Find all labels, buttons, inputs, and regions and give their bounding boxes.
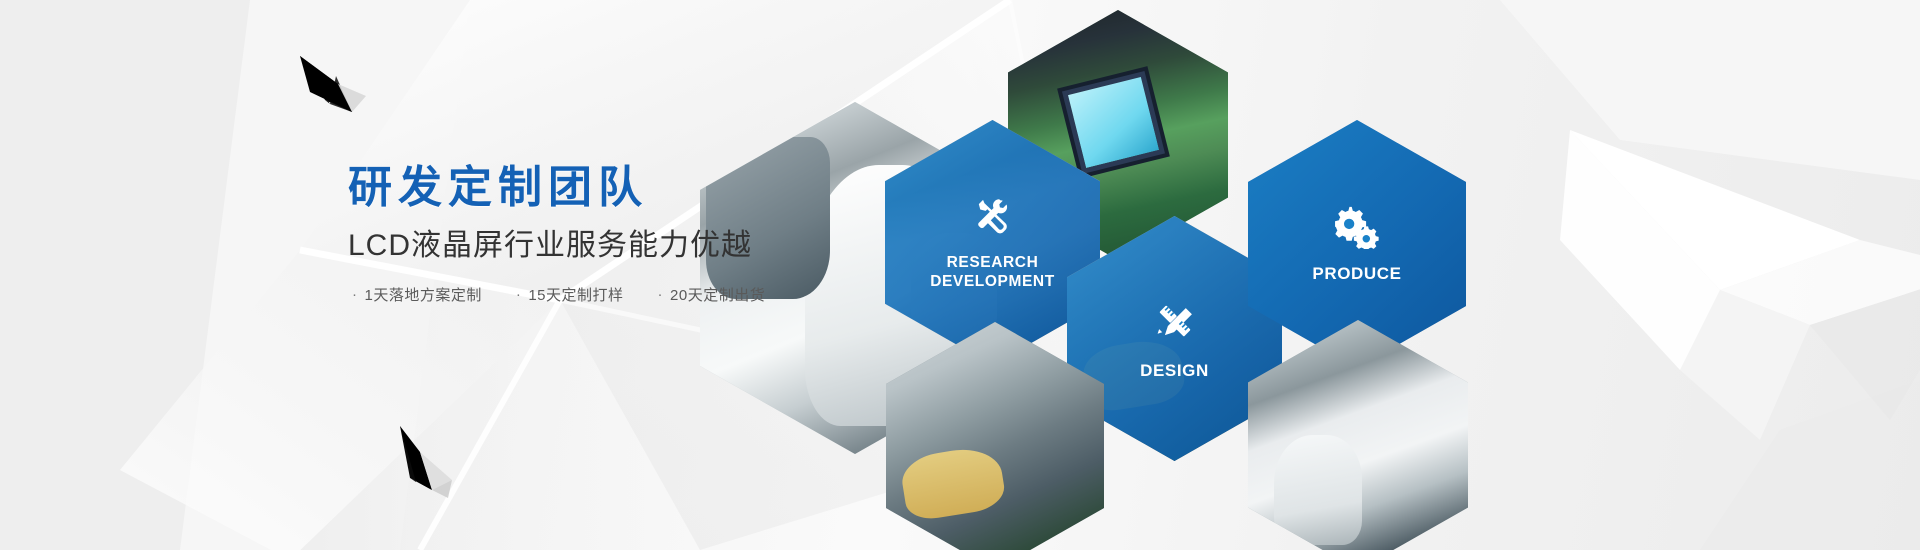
feature-item-1: · 1天落地方案定制 bbox=[352, 284, 482, 305]
page-subtitle: LCD液晶屏行业服务能力优越 bbox=[348, 228, 908, 264]
wrench-screwdriver-icon bbox=[970, 193, 1016, 244]
hexagon-label-line1: PRODUCE bbox=[1312, 264, 1401, 283]
promo-banner: 研发定制团队 LCD液晶屏行业服务能力优越 · 1天落地方案定制 · 15天定制… bbox=[0, 0, 1920, 550]
feature-label-2: 15天定制打样 bbox=[528, 284, 623, 305]
hexagon-label-line2: DEVELOPMENT bbox=[930, 273, 1055, 290]
hexagon-label-line1: RESEARCH bbox=[947, 254, 1039, 271]
copy-block: 研发定制团队 LCD液晶屏行业服务能力优越 · 1天落地方案定制 · 15天定制… bbox=[348, 163, 908, 305]
gears-icon bbox=[1332, 203, 1382, 254]
pencil-ruler-icon bbox=[1150, 296, 1200, 351]
feature-item-3: · 20天定制出货 bbox=[658, 284, 766, 305]
feature-item-2: · 15天定制打样 bbox=[516, 284, 624, 305]
feature-label-1: 1天落地方案定制 bbox=[365, 284, 482, 305]
bullet-dot-icon: · bbox=[516, 287, 522, 302]
hexagon-label: PRODUCE bbox=[1312, 264, 1401, 285]
hexagon-label: DESIGN bbox=[1140, 361, 1209, 382]
feature-label-3: 20天定制出货 bbox=[670, 284, 765, 305]
hexagon-label: RESEARCH DEVELOPMENT bbox=[930, 254, 1055, 292]
page-title: 研发定制团队 bbox=[348, 163, 908, 214]
feature-list: · 1天落地方案定制 · 15天定制打样 · 20天定制出货 bbox=[352, 284, 908, 305]
bullet-dot-icon: · bbox=[352, 287, 358, 302]
bullet-dot-icon: · bbox=[658, 287, 664, 302]
hexagon-label-line1: DESIGN bbox=[1140, 361, 1209, 380]
